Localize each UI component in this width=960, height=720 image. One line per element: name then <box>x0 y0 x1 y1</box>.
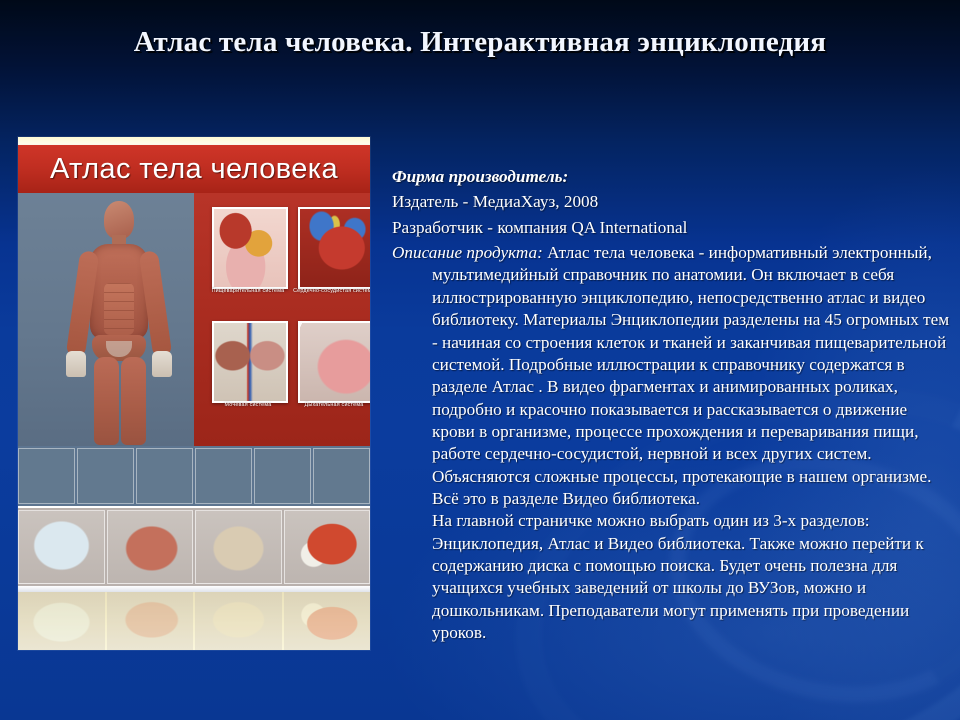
hand-arm-thumbnail <box>195 448 252 504</box>
respiratory-system-panel <box>298 321 370 403</box>
figure-left-hand <box>66 351 86 377</box>
skeletal-thumbnail-row <box>18 446 370 506</box>
description-label: Описание продукта: <box>392 243 543 262</box>
skeleton-thumbnail <box>18 448 75 504</box>
figure-head <box>104 201 134 239</box>
slide-root: Атлас тела человека. Интерактивная энцик… <box>0 0 960 720</box>
vertebra-thumbnail <box>136 448 193 504</box>
cardiovascular-system-label: Сердечно-сосудистая система <box>292 288 370 295</box>
cover-banner: Атлас тела человека <box>18 145 370 193</box>
knee-joint-thumbnail <box>254 448 311 504</box>
brain-thumbnail <box>195 510 282 584</box>
urinary-system-panel <box>212 321 288 403</box>
head-muscles-thumbnail-reflection <box>107 592 194 650</box>
lungs-icon <box>300 323 370 401</box>
human-body-figure <box>54 199 184 444</box>
cover-top-strip <box>18 137 370 145</box>
kidneys-icon <box>214 323 286 401</box>
eye-thumbnail <box>284 510 371 584</box>
digestive-system-label: Пищеварительная система <box>206 288 290 295</box>
figure-abdominal-muscles <box>104 283 134 335</box>
usage-paragraph: На главной страничке можно выбрать один … <box>392 510 954 644</box>
developer-line: Разработчик - компания QA International <box>392 217 954 239</box>
manufacturer-label-line: Фирма производитель: <box>392 166 954 188</box>
figure-right-hand <box>152 351 172 377</box>
cell-thumbnail-reflection <box>18 592 105 650</box>
publisher-line: Издатель - МедиаХауз, 2008 <box>392 191 954 213</box>
cover-banner-title: Атлас тела человека <box>50 153 338 186</box>
cover-main-scene: Пищеварительная система Сердечно-сосудис… <box>18 193 370 446</box>
head-muscles-thumbnail <box>107 510 194 584</box>
product-cover-image: Атлас тела человека Пищ <box>18 137 370 650</box>
digestive-system-panel <box>212 207 288 289</box>
figure-right-leg <box>121 357 146 445</box>
manufacturer-label: Фирма производитель: <box>392 167 568 186</box>
skull-thumbnail <box>77 448 134 504</box>
urinary-system-label: Мочевая система <box>206 402 290 409</box>
cell-thumbnail <box>18 510 105 584</box>
eye-thumbnail-reflection <box>284 592 371 650</box>
digestive-system-icon <box>214 209 286 287</box>
brain-thumbnail-reflection <box>195 592 282 650</box>
product-info-text: Фирма производитель: Издатель - МедиаХау… <box>392 166 954 645</box>
description-paragraph: Описание продукта: Атлас тела человека -… <box>392 242 954 488</box>
figure-left-leg <box>94 357 119 445</box>
cardiovascular-system-panel <box>298 207 370 289</box>
description-body: Атлас тела человека - информативный элек… <box>432 243 949 486</box>
page-title: Атлас тела человека. Интерактивная энцик… <box>120 22 840 63</box>
heart-icon <box>300 209 370 287</box>
cover-reflection <box>18 592 370 650</box>
video-library-line: Всё это в разделе Видео библиотека. <box>392 488 954 510</box>
leg-muscle-thumbnail <box>313 448 370 504</box>
respiratory-system-label: Дыхательная система <box>292 402 370 409</box>
anatomy-thumbnail-row <box>18 508 370 586</box>
